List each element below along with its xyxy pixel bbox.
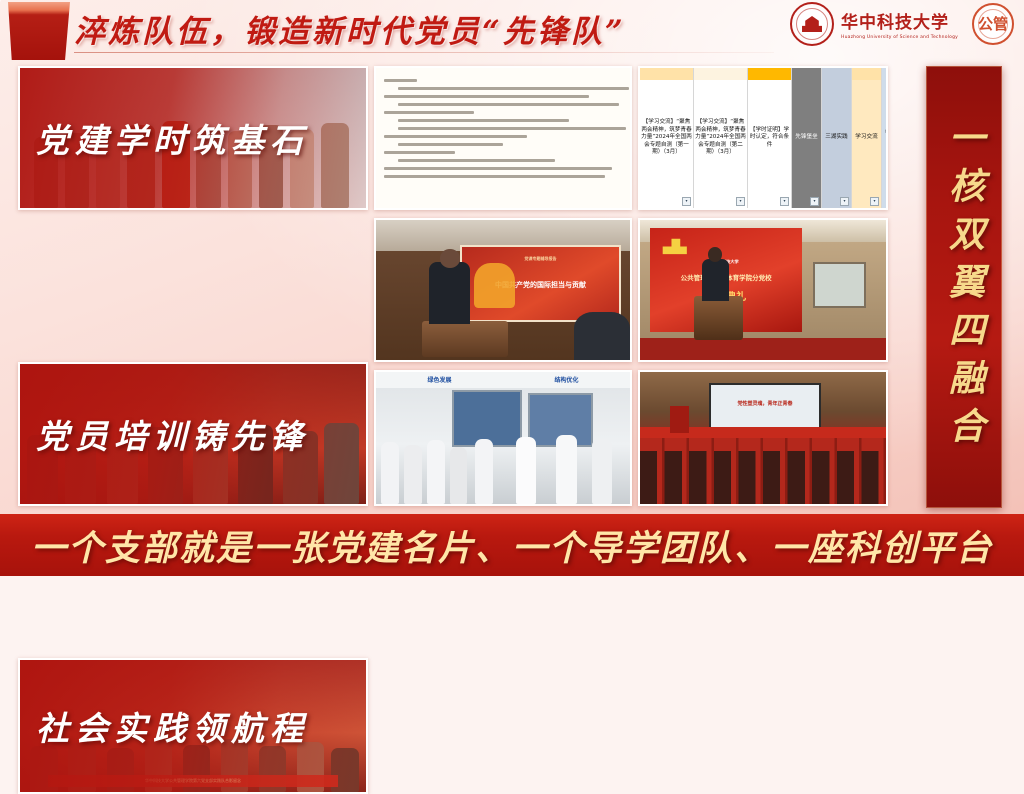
hust-logo: 华中科技大学 Huazhong University of Science an… <box>790 2 958 46</box>
logo-group: 华中科技大学 Huazhong University of Science an… <box>790 2 1014 46</box>
sheet-filter-icon[interactable]: ▾ <box>682 197 691 206</box>
doc-line <box>384 175 605 178</box>
panel-row3-label: 华中科技大学公共管理学院第六党支部实践队合影留念 社会实践领航程 <box>18 658 368 794</box>
poster-board: 淬炼队伍，锻造新时代党员“先锋队” 华中科技大学 Huazhong Univer… <box>0 0 1024 576</box>
sheet-column-label: 特色创建活动 <box>883 130 888 145</box>
panel-row1-label: 党建学时筑基石 <box>18 66 368 210</box>
factory-scene: 绿色发展 结构优化 <box>376 372 630 504</box>
poster-header: 淬炼队伍，锻造新时代党员“先锋队” 华中科技大学 Huazhong Univer… <box>0 0 1024 62</box>
hall-audience <box>640 451 886 504</box>
foreground-attendee <box>574 312 630 360</box>
secondary-seal-icon: 公管 <box>972 3 1014 45</box>
ceremony-speaker <box>702 259 729 301</box>
hust-seal-core-icon <box>802 16 822 32</box>
panel-ceremony-photo: 华中科技大学 公共管理学院、体育学院分党校 开班典礼 <box>638 218 888 362</box>
sheet-column-header <box>748 68 791 80</box>
doc-line <box>398 143 503 146</box>
ceremony-podium <box>694 296 743 341</box>
panel-spreadsheet: 【学习交流】“聚焦两会精神，筑梦青春力量”2024年全国两会专题自测（第一期）（… <box>638 66 888 210</box>
lecture-podium <box>422 321 508 357</box>
sheet-filter-icon[interactable]: ▾ <box>870 197 879 206</box>
side-banner: 一核双翼四融合 <box>926 66 1002 508</box>
sheet-column[interactable]: 先锋堡垒 ▾ <box>792 68 822 208</box>
doc-line <box>398 119 569 122</box>
sheet-column-header <box>694 68 747 80</box>
panel-lecture-hall-photo: 党性塑灵魂，青年正青春 <box>638 370 888 506</box>
panel-label-row3: 社会实践领航程 <box>36 702 309 750</box>
sheet-column-header <box>882 68 888 80</box>
panel-factory-visit-photo: 绿色发展 结构优化 <box>374 370 632 506</box>
header-accent-mark <box>8 2 70 60</box>
doc-line <box>384 79 417 82</box>
side-screen <box>813 262 866 308</box>
speaker-head <box>440 249 460 267</box>
hust-seal-icon <box>790 2 834 46</box>
ceremony-scene: 华中科技大学 公共管理学院、体育学院分党校 开班典礼 <box>640 220 886 360</box>
doc-line <box>384 95 589 98</box>
doc-line <box>398 127 626 130</box>
visitor-group <box>376 422 630 504</box>
sheet-filter-icon[interactable]: ▾ <box>736 197 745 206</box>
sheet-column-header <box>822 68 851 80</box>
university-name-cn: 华中科技大学 <box>841 8 958 33</box>
sheet-column[interactable]: 【学时证明】学时认定，符合条件 ▾ <box>748 68 792 208</box>
sheet-column[interactable]: 【学习交流】“聚焦两会精神，筑梦青春力量”2024年全国两会专题自测（第二期）（… <box>694 68 748 208</box>
secondary-seal-glyph: 公管 <box>978 17 1008 32</box>
sheet-column[interactable]: 学习交流 ▾ <box>852 68 882 208</box>
sheet-column-header <box>640 68 693 80</box>
bottom-banner-text: 一个支部就是一张党建名片、一个导学团队、一座科创平台 <box>31 520 993 571</box>
sheet-column-label: 【学习交流】“聚焦两会精神，筑梦青春力量”2024年全国两会专题自测（第一期）（… <box>641 119 692 157</box>
doc-line <box>398 87 629 90</box>
factory-sign-right: 结构优化 <box>554 375 578 384</box>
sheet-column[interactable]: 【学习交流】“聚焦两会精神，筑梦青春力量”2024年全国两会专题自测（第一期）（… <box>640 68 694 208</box>
panel-lecture-photo: 党课专题辅导报告 中国共产党的国际担当与贡献 <box>374 218 632 362</box>
projection-screen: 党课专题辅导报告 中国共产党的国际担当与贡献 <box>460 245 621 322</box>
hall-projection-screen: 党性塑灵魂，青年正青春 <box>709 383 821 432</box>
bottom-banner: 一个支部就是一张党建名片、一个导学团队、一座科创平台 <box>0 514 1024 576</box>
sheet-filter-icon[interactable]: ▾ <box>840 197 849 206</box>
sheet-column[interactable]: 特色创建活动 ▾ <box>882 68 888 208</box>
doc-line <box>398 103 619 106</box>
panel-label-row1: 党建学时筑基石 <box>36 114 309 162</box>
doc-line <box>384 167 612 170</box>
panel-row2-label: 党员培训铸先锋 <box>18 362 368 506</box>
lecture-scene: 党课专题辅导报告 中国共产党的国际担当与贡献 <box>376 220 630 360</box>
doc-line <box>398 159 555 162</box>
sheet-column-header <box>792 68 821 80</box>
hust-name-block: 华中科技大学 Huazhong University of Science an… <box>841 8 958 40</box>
panel-document-excerpt <box>374 66 632 210</box>
content-grid: 党建学时筑基石 【学习交流】“聚焦两会精神，筑梦青春力量”2024年全国两会专题… <box>18 66 888 506</box>
speaker-figure <box>429 262 470 324</box>
sheet-column-header <box>852 68 881 80</box>
sheet-column-label: 【学时证明】学时认定，符合条件 <box>749 127 790 150</box>
hall-podium <box>670 406 690 432</box>
sheet-column-label: 三湖实践 <box>825 134 847 142</box>
page-title: 淬炼队伍，锻造新时代党员“先锋队” <box>74 3 714 53</box>
doc-line <box>384 135 527 138</box>
hall-scene: 党性塑灵魂，青年正青春 <box>640 372 886 504</box>
doc-line <box>384 151 455 154</box>
ceremony-stage <box>640 338 886 360</box>
doc-line <box>384 111 474 114</box>
sheet-filter-icon[interactable]: ▾ <box>810 197 819 206</box>
sheet-column[interactable]: 三湖实践 ▾ <box>822 68 852 208</box>
slide-subtitle: 党课专题辅导报告 <box>462 256 619 262</box>
sheet-column-label: 先锋堡垒 <box>795 134 817 142</box>
factory-sign-left: 绿色发展 <box>427 375 451 384</box>
party-emblem-icon <box>661 235 688 258</box>
university-name-en: Huazhong University of Science and Techn… <box>841 35 958 40</box>
side-banner-text: 一核双翼四融合 <box>938 119 990 455</box>
spreadsheet-table: 【学习交流】“聚焦两会精神，筑梦青春力量”2024年全国两会专题自测（第一期）（… <box>640 68 886 208</box>
panel-label-row2: 党员培训铸先锋 <box>36 410 309 458</box>
sheet-filter-icon[interactable]: ▾ <box>780 197 789 206</box>
sheet-column-label: 【学习交流】“聚焦两会精神，筑梦青春力量”2024年全国两会专题自测（第二期）（… <box>695 119 746 157</box>
header-divider <box>74 52 774 53</box>
hall-screen-title: 党性塑灵魂，青年正青春 <box>711 400 819 407</box>
sheet-column-label: 学习交流 <box>855 134 877 142</box>
